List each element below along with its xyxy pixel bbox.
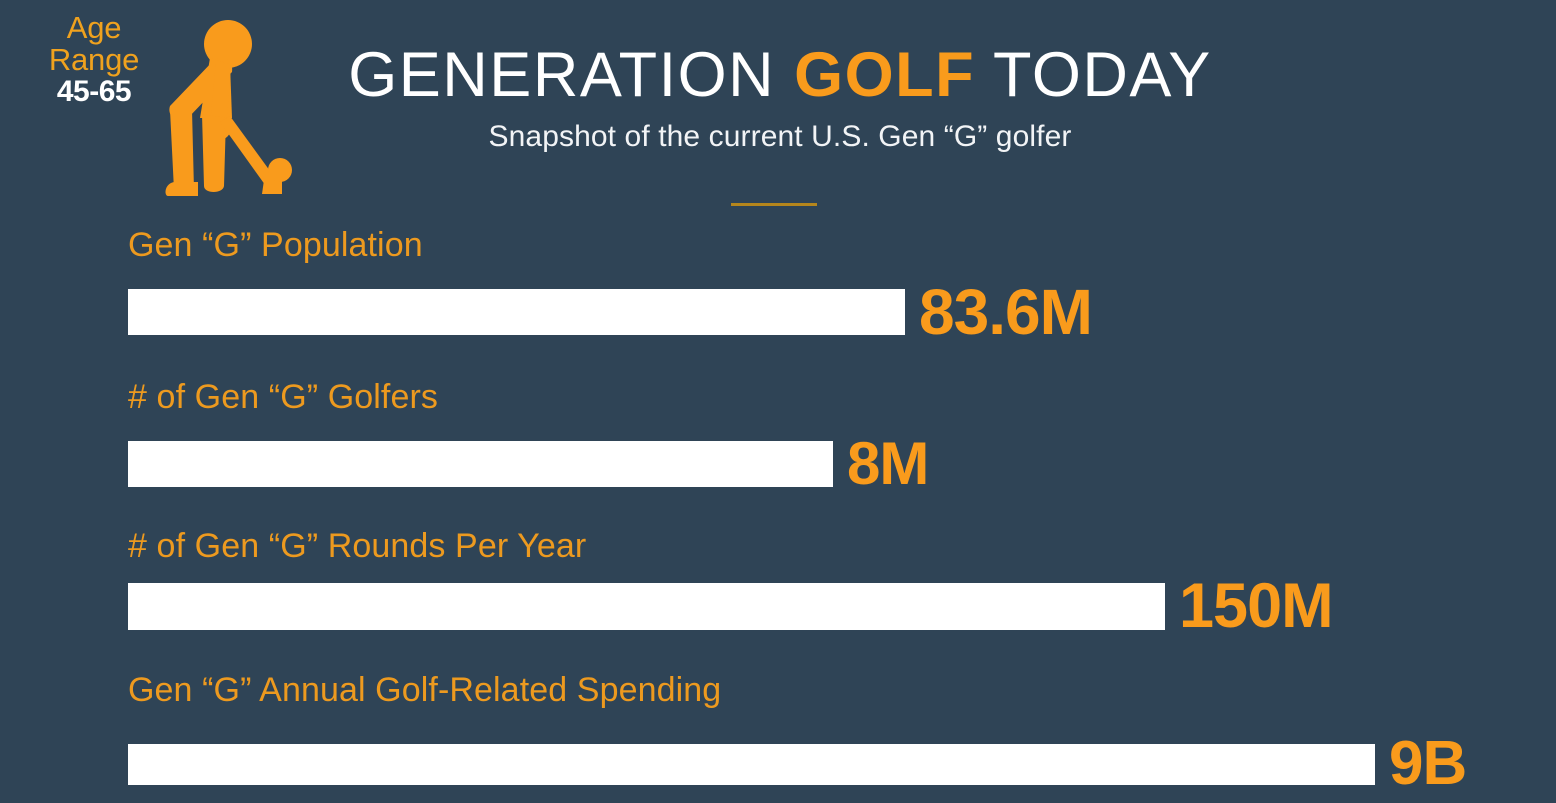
bar-row-track: 150M: [128, 575, 1333, 638]
bar-value-label: 150M: [1179, 575, 1333, 638]
bar-row-label: Gen “G” Population: [128, 226, 423, 265]
bar-row-track: 83.6M: [128, 280, 1092, 344]
age-range-block: Age Range 45-65: [28, 12, 160, 108]
bar-fill: [128, 744, 1375, 785]
title-part-golf: GOLF: [794, 40, 975, 110]
page-title: GENERATION GOLF TODAY: [330, 42, 1230, 108]
header: Age Range 45-65: [0, 0, 1556, 215]
bar-row-track: 9B: [128, 733, 1466, 795]
bar-value-label: 83.6M: [919, 280, 1092, 344]
age-range-label-line2: Range: [28, 44, 160, 76]
age-range-value: 45-65: [28, 77, 160, 108]
title-block: GENERATION GOLF TODAY Snapshot of the cu…: [330, 42, 1230, 154]
infographic-canvas: Age Range 45-65: [0, 0, 1556, 803]
page-subtitle: Snapshot of the current U.S. Gen “G” gol…: [330, 120, 1230, 154]
age-range-label-line1: Age: [28, 12, 160, 44]
title-part-generation: GENERATION: [348, 40, 794, 110]
bar-fill: [128, 289, 905, 335]
title-part-today: TODAY: [975, 40, 1212, 110]
golfer-pictogram-icon: [152, 14, 302, 199]
title-divider: [731, 203, 817, 206]
bar-row-track: 8M: [128, 434, 928, 494]
bar-value-label: 9B: [1389, 733, 1466, 795]
bar-fill: [128, 583, 1165, 630]
bar-row-label: # of Gen “G” Rounds Per Year: [128, 527, 586, 566]
bar-row-label: # of Gen “G” Golfers: [128, 378, 438, 417]
bar-value-label: 8M: [847, 434, 928, 494]
bar-row-label: Gen “G” Annual Golf-Related Spending: [128, 671, 721, 710]
bar-fill: [128, 441, 833, 487]
